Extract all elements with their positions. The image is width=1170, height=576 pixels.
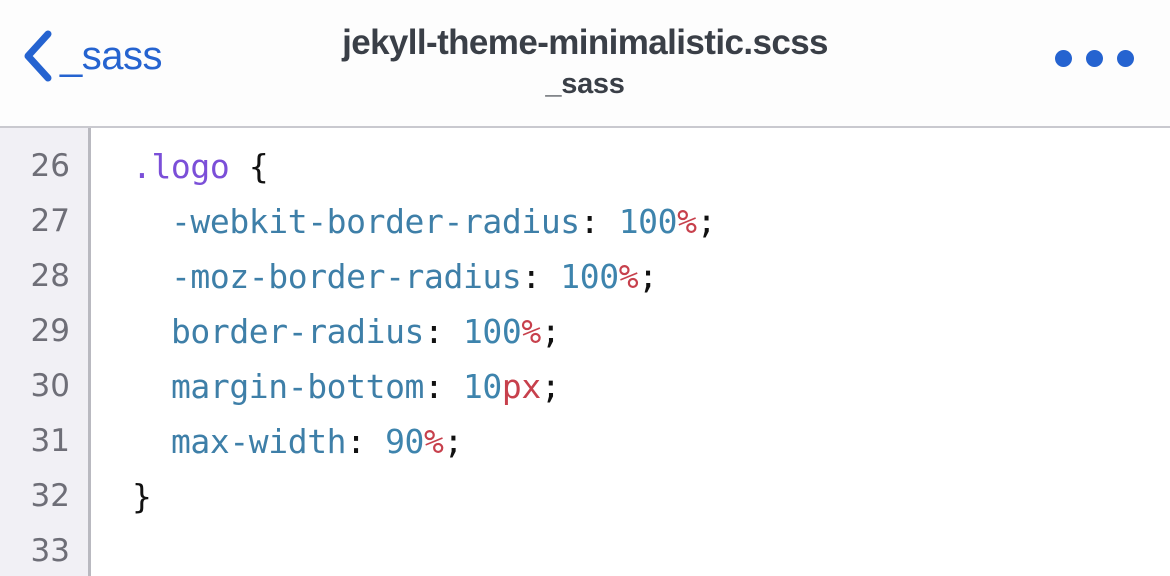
code-token: : <box>580 202 619 241</box>
back-button-label: _sass <box>60 36 162 76</box>
code-token: % <box>619 257 638 296</box>
code-token: .logo <box>132 147 229 186</box>
line-number: 32 <box>0 469 88 524</box>
code-token: : <box>346 422 385 461</box>
code-token: px <box>502 367 541 406</box>
code-token: 100 <box>463 312 521 351</box>
code-token: border-radius <box>171 312 424 351</box>
code-line[interactable]: margin-bottom: 10px; <box>132 359 1170 414</box>
code-content[interactable]: .logo { -webkit-border-radius: 100%; -mo… <box>91 128 1170 576</box>
code-token: 100 <box>619 202 677 241</box>
chevron-left-icon <box>22 30 52 82</box>
navigation-bar: _sass jekyll-theme-minimalistic.scss _sa… <box>0 0 1170 128</box>
code-token: margin-bottom <box>171 367 424 406</box>
code-editor[interactable]: 2627282930313233 .logo { -webkit-border-… <box>0 128 1170 576</box>
code-token: 100 <box>560 257 618 296</box>
code-token: max-width <box>171 422 346 461</box>
title-block: jekyll-theme-minimalistic.scss _sass <box>0 22 1170 101</box>
code-token <box>132 367 171 406</box>
ellipsis-dot <box>1117 50 1134 67</box>
code-token: ; <box>638 257 657 296</box>
code-line[interactable]: max-width: 90%; <box>132 414 1170 469</box>
ellipsis-horizontal-icon[interactable] <box>1055 50 1134 67</box>
code-token <box>132 312 171 351</box>
ellipsis-dot <box>1055 50 1072 67</box>
code-token: : <box>424 367 463 406</box>
code-token: 10 <box>463 367 502 406</box>
code-token: ; <box>541 312 560 351</box>
code-token <box>132 257 171 296</box>
code-line[interactable]: .logo { <box>132 139 1170 194</box>
code-token <box>132 422 171 461</box>
line-number: 29 <box>0 304 88 359</box>
code-token: ; <box>541 367 560 406</box>
code-token: -webkit-border-radius <box>171 202 580 241</box>
code-line[interactable] <box>132 524 1170 576</box>
code-token: % <box>677 202 696 241</box>
code-token: ; <box>697 202 716 241</box>
back-button[interactable]: _sass <box>22 30 162 82</box>
file-viewer-screen: _sass jekyll-theme-minimalistic.scss _sa… <box>0 0 1170 576</box>
line-number: 26 <box>0 139 88 194</box>
line-number: 30 <box>0 359 88 414</box>
line-number: 33 <box>0 524 88 576</box>
page-subtitle: _sass <box>0 67 1170 102</box>
code-line[interactable]: } <box>132 469 1170 524</box>
line-number: 28 <box>0 249 88 304</box>
code-token: } <box>132 477 151 516</box>
code-line[interactable]: -webkit-border-radius: 100%; <box>132 194 1170 249</box>
code-token: % <box>424 422 443 461</box>
code-token <box>229 147 248 186</box>
code-token <box>132 202 171 241</box>
code-line[interactable]: border-radius: 100%; <box>132 304 1170 359</box>
line-number: 27 <box>0 194 88 249</box>
code-token: : <box>424 312 463 351</box>
code-token: -moz-border-radius <box>171 257 521 296</box>
code-token: ; <box>444 422 463 461</box>
code-token: 90 <box>385 422 424 461</box>
page-title: jekyll-theme-minimalistic.scss <box>0 22 1170 65</box>
code-line[interactable]: -moz-border-radius: 100%; <box>132 249 1170 304</box>
code-token: % <box>521 312 540 351</box>
line-number: 31 <box>0 414 88 469</box>
code-token: : <box>521 257 560 296</box>
line-number-gutter: 2627282930313233 <box>0 128 91 576</box>
ellipsis-dot <box>1086 50 1103 67</box>
code-token: { <box>249 147 268 186</box>
